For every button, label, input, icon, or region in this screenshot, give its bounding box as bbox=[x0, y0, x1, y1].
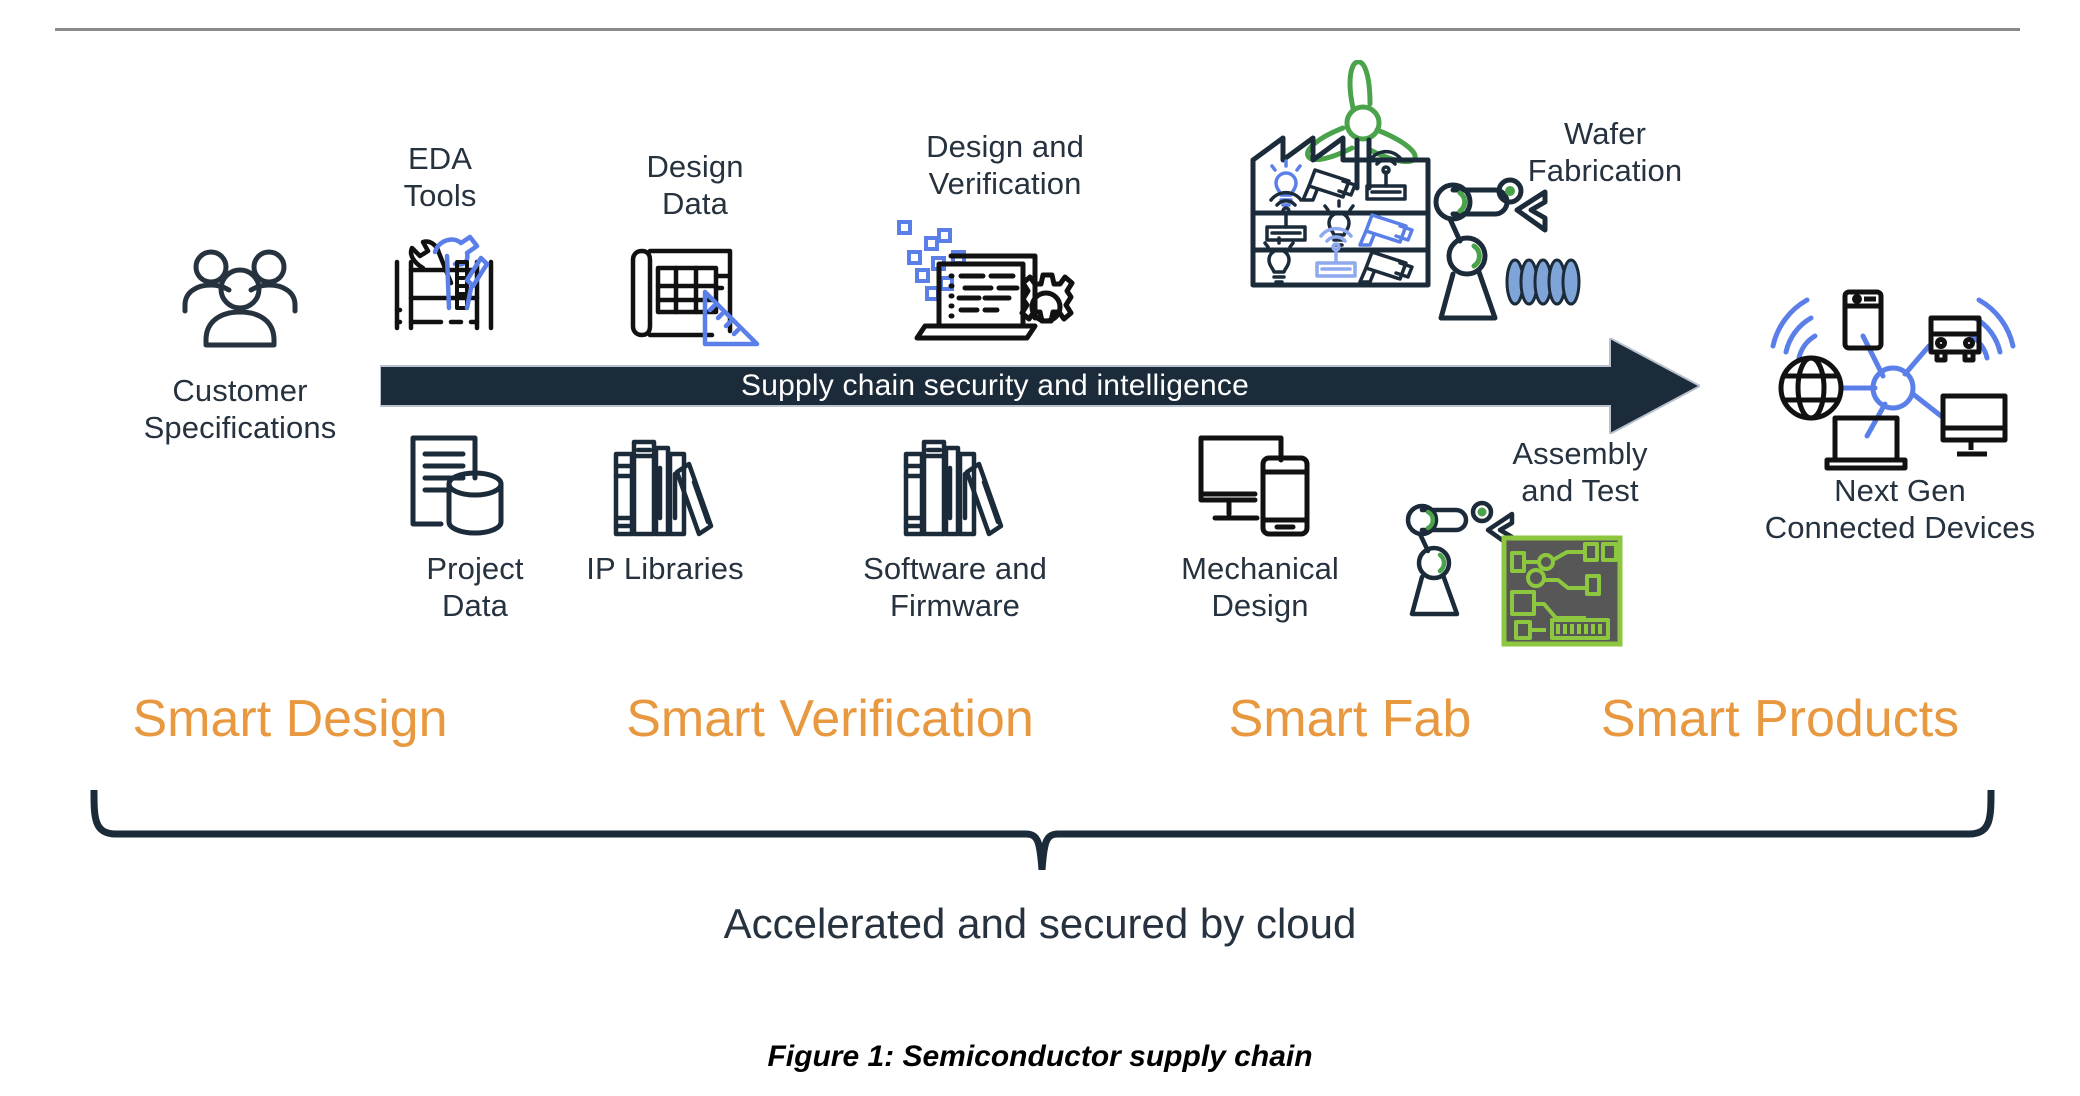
brace-caption: Accelerated and secured by cloud bbox=[0, 900, 2080, 948]
endpoint-start-label-line1: Customer bbox=[90, 372, 390, 409]
robot-arm-pcb-icon bbox=[1400, 500, 1630, 650]
top-divider-rule bbox=[55, 28, 2020, 31]
books-icon bbox=[610, 434, 720, 539]
node-design-data-label-line2: Data bbox=[600, 185, 790, 222]
connected-devices-network-icon bbox=[1765, 288, 2035, 488]
stage-label-smart-verification: Smart Verification bbox=[540, 690, 1120, 748]
node-eda-tools-label-line2: Tools bbox=[345, 177, 535, 214]
node-design-verification-label: Design and Verification bbox=[880, 128, 1130, 202]
node-eda-tools-label: EDA Tools bbox=[345, 140, 535, 214]
endpoint-start-label: Customer Specifications bbox=[90, 372, 390, 446]
endpoint-end-label: Next Gen Connected Devices bbox=[1715, 472, 2080, 546]
node-project-data-label: Project Data bbox=[390, 550, 560, 624]
node-design-data-label: Design Data bbox=[600, 148, 790, 222]
node-ip-libraries-label: IP Libraries bbox=[545, 550, 785, 587]
node-software-firmware-label: Software and Firmware bbox=[820, 550, 1090, 624]
endpoint-end-label-line2: Connected Devices bbox=[1715, 509, 2080, 546]
stage-label-smart-design: Smart Design bbox=[0, 690, 580, 748]
curly-brace bbox=[90, 790, 1995, 870]
node-eda-tools-label-line1: EDA bbox=[345, 140, 535, 177]
people-group-icon bbox=[175, 245, 305, 350]
node-design-verification-label-line2: Verification bbox=[880, 165, 1130, 202]
document-database-icon bbox=[405, 432, 515, 540]
node-project-data-label-line2: Data bbox=[390, 587, 560, 624]
node-design-data-label-line1: Design bbox=[600, 148, 790, 185]
node-software-firmware-label-line1: Software and bbox=[820, 550, 1090, 587]
books-icon bbox=[900, 434, 1010, 539]
toolbox-icon bbox=[385, 222, 503, 332]
right-arrow-banner-icon bbox=[380, 338, 1700, 434]
laptop-gear-icon bbox=[895, 212, 1075, 352]
monitor-phone-icon bbox=[1195, 432, 1315, 540]
smart-factory-icon bbox=[1245, 60, 1585, 350]
node-mechanical-design-label: Mechanical Design bbox=[1155, 550, 1365, 624]
node-design-verification-label-line1: Design and bbox=[880, 128, 1130, 165]
node-assembly-test-label-line1: Assembly bbox=[1475, 435, 1685, 472]
node-mechanical-design-label-line1: Mechanical bbox=[1155, 550, 1365, 587]
supply-chain-banner-arrow: Supply chain security and intelligence bbox=[380, 338, 1700, 434]
stage-label-smart-products: Smart Products bbox=[1540, 690, 2020, 748]
node-assembly-test-label: Assembly and Test bbox=[1475, 435, 1685, 509]
node-mechanical-design-label-line2: Design bbox=[1155, 587, 1365, 624]
endpoint-start-label-line2: Specifications bbox=[90, 409, 390, 446]
figure-caption: Figure 1: Semiconductor supply chain bbox=[0, 1040, 2080, 1074]
stage-label-smart-fab: Smart Fab bbox=[1140, 690, 1560, 748]
node-ip-libraries-label-line1: IP Libraries bbox=[545, 550, 785, 587]
figure-canvas: Customer Specifications EDA Tools bbox=[0, 0, 2080, 1096]
node-software-firmware-label-line2: Firmware bbox=[820, 587, 1090, 624]
node-project-data-label-line1: Project bbox=[390, 550, 560, 587]
endpoint-end-label-line1: Next Gen bbox=[1715, 472, 2080, 509]
